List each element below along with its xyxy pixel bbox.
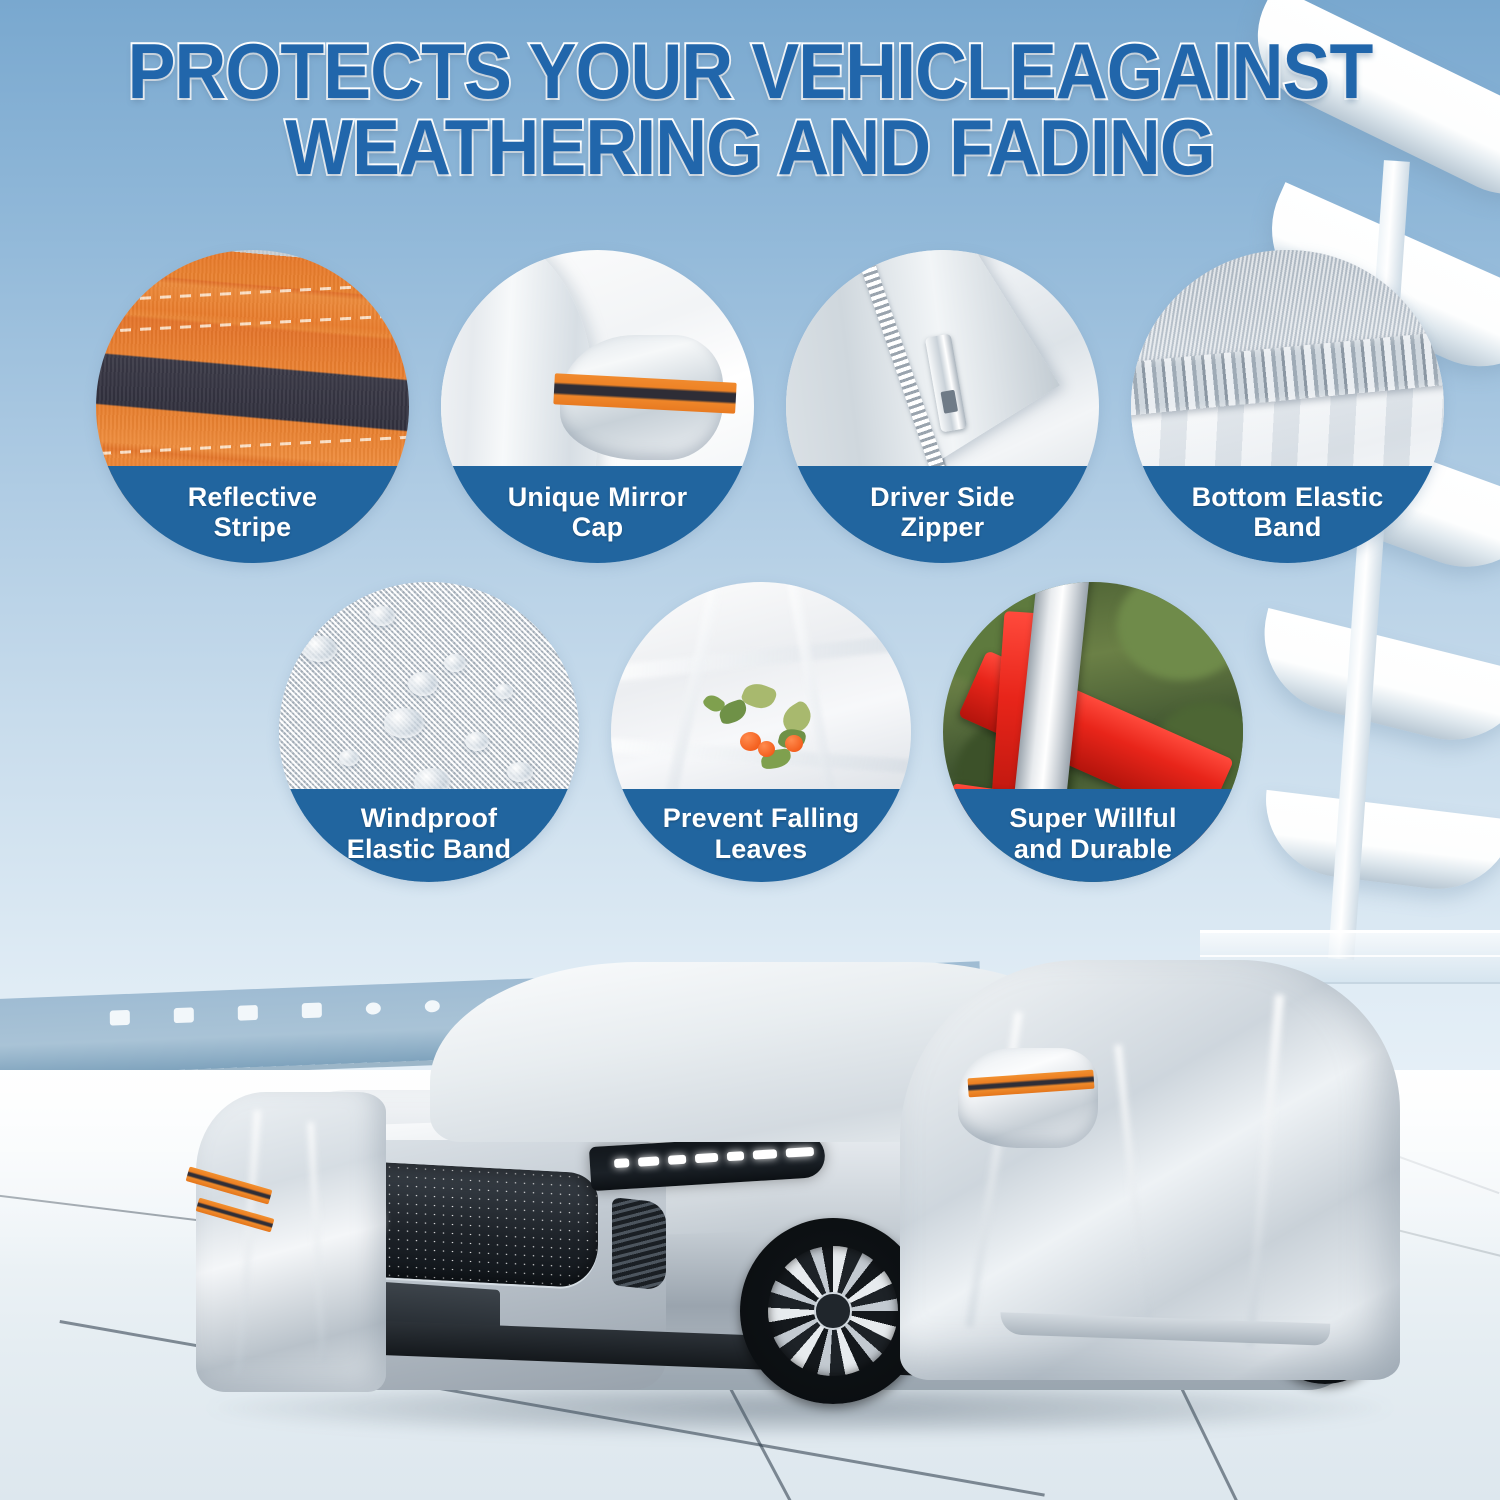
cover-fold — [1115, 1044, 1153, 1337]
feature-label-reflective-stripe: Reflective Stripe — [96, 466, 409, 563]
front-wheel — [740, 1218, 926, 1404]
water-bead — [384, 708, 424, 738]
led-segment — [667, 1154, 686, 1164]
stitch-line — [96, 313, 409, 334]
wheel-hub — [814, 1292, 851, 1329]
feature-label-unique-mirror-cap: Unique Mirror Cap — [441, 466, 754, 563]
feature-label-line-1: Prevent Falling — [663, 803, 860, 833]
feature-label-windproof-elastic-band: Windproof Elastic Band — [279, 789, 579, 882]
feature-unique-mirror-cap[interactable]: Unique Mirror Cap — [441, 250, 754, 563]
feature-label-line-2: Zipper — [870, 512, 1015, 542]
water-bead — [444, 654, 466, 672]
feature-windproof-elastic-band[interactable]: Windproof Elastic Band — [279, 582, 579, 882]
stitch-line — [96, 435, 409, 456]
infographic-canvas: PROTECTS YOUR VEHICLEAGAINST WEATHERING … — [0, 0, 1500, 1500]
stitch-line — [96, 282, 409, 303]
feature-bottom-elastic-band[interactable]: Bottom Elastic Band — [1131, 250, 1444, 563]
feature-label-prevent-falling-leaves: Prevent Falling Leaves — [611, 789, 911, 882]
water-bead — [507, 762, 533, 782]
feature-row-2: Windproof Elastic Band — [279, 582, 1243, 882]
feature-label-line-1: Unique Mirror — [508, 482, 688, 512]
feature-label-line-2: Cap — [508, 512, 688, 542]
water-bead — [495, 684, 513, 699]
led-segment — [752, 1149, 777, 1159]
cover-mirror-pocket — [958, 1048, 1098, 1148]
cover-fold — [1245, 994, 1285, 1346]
water-bead — [465, 732, 489, 751]
headline-line-2: WEATHERING AND FADING — [60, 110, 1440, 186]
led-segment — [614, 1158, 629, 1168]
air-vent — [612, 1197, 666, 1291]
page-title: PROTECTS YOUR VEHICLEAGAINST WEATHERING … — [60, 34, 1440, 185]
feature-label-line-2: Leaves — [663, 834, 860, 864]
led-segment — [786, 1146, 815, 1157]
berry — [785, 735, 803, 752]
led-segment — [695, 1152, 718, 1162]
feature-super-willful-and-durable[interactable]: Super Willful and Durable — [943, 582, 1243, 882]
led-segment — [726, 1151, 743, 1161]
water-bead — [408, 672, 438, 696]
feature-label-bottom-elastic-band: Bottom Elastic Band — [1131, 466, 1444, 563]
car-cover-front-section — [196, 1092, 386, 1392]
headline-line-1: PROTECTS YOUR VEHICLEAGAINST — [128, 27, 1373, 115]
feature-row-1: Reflective Stripe Unique Mirror Cap — [96, 250, 1444, 563]
berry — [758, 741, 775, 757]
feature-label-line-1: Windproof — [347, 803, 511, 833]
feature-label-line-2: Band — [1192, 512, 1384, 542]
water-bead — [303, 636, 337, 662]
feature-driver-side-zipper[interactable]: Driver Side Zipper — [786, 250, 1099, 563]
feature-label-line-1: Reflective — [188, 482, 318, 512]
foliage-blob — [1117, 582, 1243, 680]
feature-reflective-stripe[interactable]: Reflective Stripe — [96, 250, 409, 563]
led-segment — [638, 1156, 659, 1166]
feature-label-line-1: Bottom Elastic — [1192, 482, 1384, 512]
feature-label-line-2: and Durable — [1009, 834, 1176, 864]
feature-label-driver-side-zipper: Driver Side Zipper — [786, 466, 1099, 563]
feature-label-line-2: Elastic Band — [347, 834, 511, 864]
fabric-fold — [611, 628, 911, 685]
water-bead — [339, 750, 359, 766]
feature-label-super-willful-and-durable: Super Willful and Durable — [943, 789, 1243, 882]
feature-label-line-1: Driver Side — [870, 482, 1015, 512]
water-bead — [369, 606, 395, 626]
feature-label-line-1: Super Willful — [1009, 803, 1176, 833]
cover-fold — [308, 1122, 327, 1362]
feature-prevent-falling-leaves[interactable]: Prevent Falling Leaves — [611, 582, 911, 882]
cover-fold — [236, 1110, 261, 1374]
feature-label-line-2: Stripe — [188, 512, 318, 542]
